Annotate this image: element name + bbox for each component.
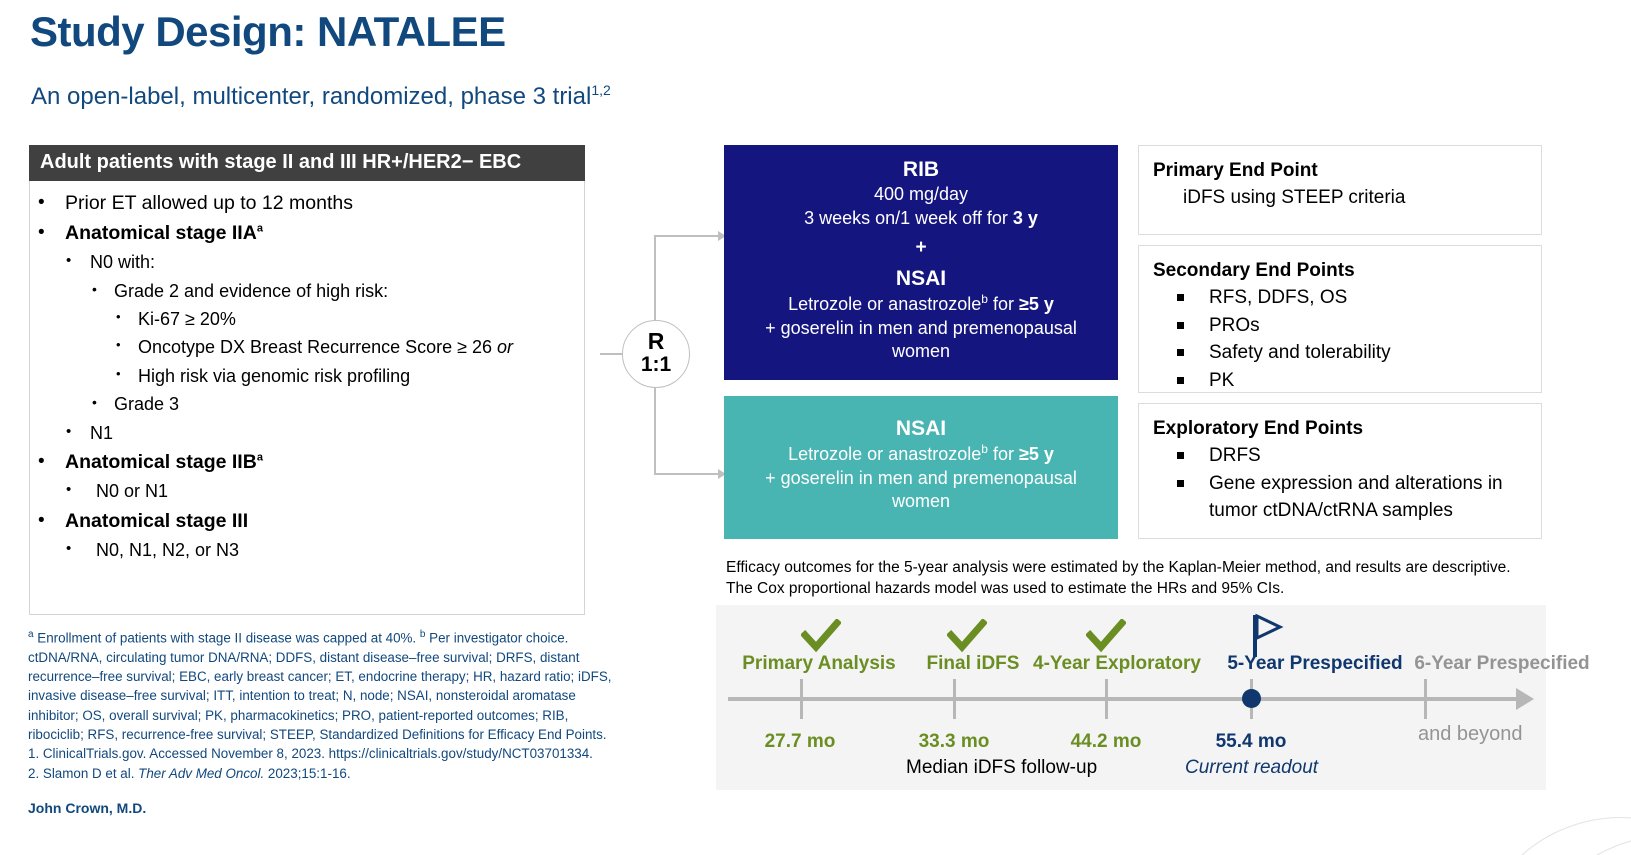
- timeline-beyond-caption: and beyond: [1418, 723, 1523, 746]
- criteria-item: •Grade 2 and evidence of high risk:: [92, 282, 576, 301]
- timeline-tick: [1424, 679, 1427, 719]
- arm-nsai-goserelin-1: + goserelin in men and premenopausal: [724, 467, 1118, 490]
- square-bullet-icon: [1177, 322, 1184, 329]
- milestone-label-final-idfs: Final iDFS: [912, 653, 1034, 675]
- footnote-definitions: a Enrollment of patients with stage II d…: [28, 628, 618, 648]
- arc-2: [1521, 835, 1631, 855]
- method-note-line-1: Efficacy outcomes for the 5-year analysi…: [726, 557, 1526, 578]
- criteria-header: Adult patients with stage II and III HR+…: [29, 145, 585, 181]
- bullet-icon: •: [66, 424, 71, 440]
- connector-line-down: [654, 387, 656, 475]
- criteria-item: •N0, N1, N2, or N3: [66, 541, 576, 560]
- randomization-connector: R 1:1: [600, 225, 710, 510]
- list-item: RFS, DDFS, OS: [1175, 284, 1541, 312]
- page-title: Study Design: NATALEE: [30, 8, 506, 56]
- criteria-item: •Grade 3: [92, 395, 576, 414]
- criteria-item-label: Grade 2 and evidence of high risk:: [114, 282, 576, 301]
- subtitle-text: An open-label, multicenter, randomized, …: [31, 83, 591, 110]
- timeline-tick: [953, 679, 956, 719]
- square-bullet-icon: [1177, 294, 1184, 301]
- check-icon: [801, 619, 841, 653]
- connector-line-up: [654, 235, 656, 321]
- milestone-label-5-year-prespecified: 5-Year Prespecified: [1210, 653, 1420, 675]
- method-note-line-2: The Cox proportional hazards model was u…: [726, 578, 1526, 599]
- criteria-item: •Anatomical stage III: [38, 511, 576, 532]
- footnote-marker-a: a: [257, 452, 263, 464]
- connector-branch-bottom: [654, 473, 720, 475]
- treatment-arm-rib: RIB 400 mg/day 3 weeks on/1 week off for…: [724, 145, 1118, 380]
- abbreviations-list: ctDNA/RNA, circulating tumor DNA/RNA; DD…: [28, 648, 618, 744]
- square-bullet-icon: [1177, 377, 1184, 384]
- list-item: Gene expression and alterations in tumor…: [1175, 470, 1541, 525]
- square-bullet-icon: [1177, 452, 1184, 459]
- list-item: PK: [1175, 367, 1541, 395]
- criteria-item: •N0 or N1: [66, 482, 576, 501]
- timeline-tick: [1105, 679, 1108, 719]
- milestone-value-5-year-prespecified: 55.4 mo: [1181, 731, 1321, 753]
- criteria-item-label: N0 or N1: [90, 482, 576, 501]
- page-subtitle: An open-label, multicenter, randomized, …: [31, 82, 611, 111]
- analysis-timeline: Primary Analysis Final iDFS 4-Year Explo…: [716, 605, 1546, 790]
- milestone-value-final-idfs: 33.3 mo: [884, 731, 1024, 753]
- square-bullet-icon: [1177, 480, 1184, 487]
- criteria-item-label: Prior ET allowed up to 12 months: [65, 193, 576, 214]
- timeline-followup-caption: Median iDFS follow-up: [906, 757, 1097, 779]
- reference-2: 2. Slamon D et al. Ther Adv Med Oncol. 2…: [28, 764, 618, 783]
- footnotes: a Enrollment of patients with stage II d…: [28, 628, 618, 783]
- arm-rib-dose: 400 mg/day: [724, 183, 1118, 206]
- criteria-item-label: Anatomical stage IIAa: [65, 223, 576, 244]
- footnote-marker-a: a: [257, 223, 263, 235]
- bullet-icon: •: [66, 541, 71, 557]
- criteria-item-label: N1: [90, 424, 576, 443]
- footnote-marker-b: b: [981, 292, 988, 306]
- timeline-arrow-icon: [1516, 688, 1534, 710]
- criteria-item-label: N0, N1, N2, or N3: [90, 541, 576, 560]
- arm-nsai-goserelin-2: women: [724, 490, 1118, 513]
- treatment-arm-nsai: NSAI Letrozole or anastrozoleb for ≥5 y …: [724, 396, 1118, 539]
- arc-1: [1471, 817, 1631, 855]
- criteria-item-label: Anatomical stage III: [65, 511, 576, 532]
- arm-nsai-drug: NSAI: [724, 416, 1118, 442]
- criteria-item: •Anatomical stage IIBa: [38, 452, 576, 473]
- criteria-item-label: Oncotype DX Breast Recurrence Score ≥ 26…: [138, 338, 576, 357]
- bullet-icon: •: [66, 482, 71, 498]
- criteria-item: •Prior ET allowed up to 12 months: [38, 193, 576, 214]
- bullet-icon: •: [116, 310, 121, 324]
- randomization-node: R 1:1: [622, 320, 690, 388]
- arm-rib-goserelin-1: + goserelin in men and premenopausal: [724, 317, 1118, 340]
- bullet-icon: •: [116, 367, 121, 381]
- primary-endpoint-detail: iDFS using STEEP criteria: [1139, 184, 1541, 212]
- bullet-icon: •: [38, 193, 45, 214]
- secondary-endpoint-list: RFS, DDFS, OS PROs Safety and tolerabili…: [1139, 284, 1541, 394]
- bullet-icon: •: [92, 395, 97, 410]
- presenter-name: John Crown, M.D.: [28, 800, 146, 816]
- timeline-axis: [728, 697, 1518, 701]
- bullet-icon: •: [92, 282, 97, 297]
- bullet-icon: •: [116, 338, 121, 352]
- list-item: PROs: [1175, 312, 1541, 340]
- bullet-icon: •: [38, 223, 45, 244]
- check-icon: [947, 619, 987, 653]
- eligibility-criteria-panel: Adult patients with stage II and III HR+…: [29, 145, 585, 615]
- criteria-item: •High risk via genomic risk profiling: [116, 367, 576, 386]
- exploratory-endpoint-title: Exploratory End Points: [1139, 404, 1541, 442]
- list-item: DRFS: [1175, 442, 1541, 470]
- secondary-endpoint-title: Secondary End Points: [1139, 246, 1541, 284]
- milestone-label-6-year-prespecified: 6-Year Prespecified: [1402, 653, 1602, 675]
- list-item: Safety and tolerability: [1175, 339, 1541, 367]
- criteria-item: •Ki-67 ≥ 20%: [116, 310, 576, 329]
- criteria-item-label: Ki-67 ≥ 20%: [138, 310, 576, 329]
- flag-icon: [1246, 613, 1290, 657]
- arm-rib-combo-detail: Letrozole or anastrozoleb for ≥5 y: [724, 292, 1118, 316]
- subtitle-references: 1,2: [591, 82, 610, 98]
- bullet-icon: •: [38, 511, 45, 532]
- criteria-item: •N0 with:: [66, 253, 576, 272]
- square-bullet-icon: [1177, 349, 1184, 356]
- exploratory-endpoint-box: Exploratory End Points DRFS Gene express…: [1138, 403, 1542, 539]
- secondary-endpoint-box: Secondary End Points RFS, DDFS, OS PROs …: [1138, 245, 1542, 393]
- reference-1: 1. ClinicalTrials.gov. Accessed November…: [28, 744, 618, 763]
- check-icon: [1086, 619, 1126, 653]
- randomization-ratio: 1:1: [641, 353, 671, 377]
- criteria-item-label: Grade 3: [114, 395, 576, 414]
- criteria-item: •Anatomical stage IIAa: [38, 223, 576, 244]
- milestone-value-4-year-exploratory: 44.2 mo: [1036, 731, 1176, 753]
- bullet-icon: •: [38, 452, 45, 473]
- criteria-list: •Prior ET allowed up to 12 months •Anato…: [29, 181, 585, 615]
- primary-endpoint-title: Primary End Point: [1139, 146, 1541, 184]
- criteria-item: •Oncotype DX Breast Recurrence Score ≥ 2…: [116, 338, 576, 357]
- footnote-marker-b: b: [981, 442, 988, 456]
- arm-rib-goserelin-2: women: [724, 340, 1118, 363]
- criteria-item-label: Anatomical stage IIBa: [65, 452, 576, 473]
- criteria-item-label: N0 with:: [90, 253, 576, 272]
- criteria-item: •N1: [66, 424, 576, 443]
- exploratory-endpoint-list: DRFS Gene expression and alterations in …: [1139, 442, 1541, 525]
- randomization-letter: R: [648, 330, 665, 353]
- arm-nsai-detail: Letrozole or anastrozoleb for ≥5 y: [724, 442, 1118, 466]
- connector-branch-top: [654, 235, 720, 237]
- timeline-current-marker: [1242, 689, 1261, 708]
- decorative-corner-arcs: [1431, 799, 1631, 855]
- arm-rib-plus: +: [724, 230, 1118, 266]
- statistical-method-note: Efficacy outcomes for the 5-year analysi…: [726, 557, 1526, 600]
- criteria-item-label: High risk via genomic risk profiling: [138, 367, 576, 386]
- arm-rib-combo-drug: NSAI: [724, 266, 1118, 292]
- timeline-current-readout-caption: Current readout: [1185, 757, 1318, 779]
- slide-root: Study Design: NATALEE An open-label, mul…: [0, 0, 1631, 855]
- connector-line-in: [600, 353, 624, 355]
- primary-endpoint-box: Primary End Point iDFS using STEEP crite…: [1138, 145, 1542, 235]
- bullet-icon: •: [66, 253, 71, 269]
- timeline-tick: [800, 679, 803, 719]
- milestone-value-primary-analysis: 27.7 mo: [730, 731, 870, 753]
- milestone-label-4-year-exploratory: 4-Year Exploratory: [1022, 653, 1212, 675]
- arm-rib-schedule: 3 weeks on/1 week off for 3 y: [724, 207, 1118, 230]
- arm-rib-drug: RIB: [724, 157, 1118, 183]
- milestone-label-primary-analysis: Primary Analysis: [724, 653, 914, 675]
